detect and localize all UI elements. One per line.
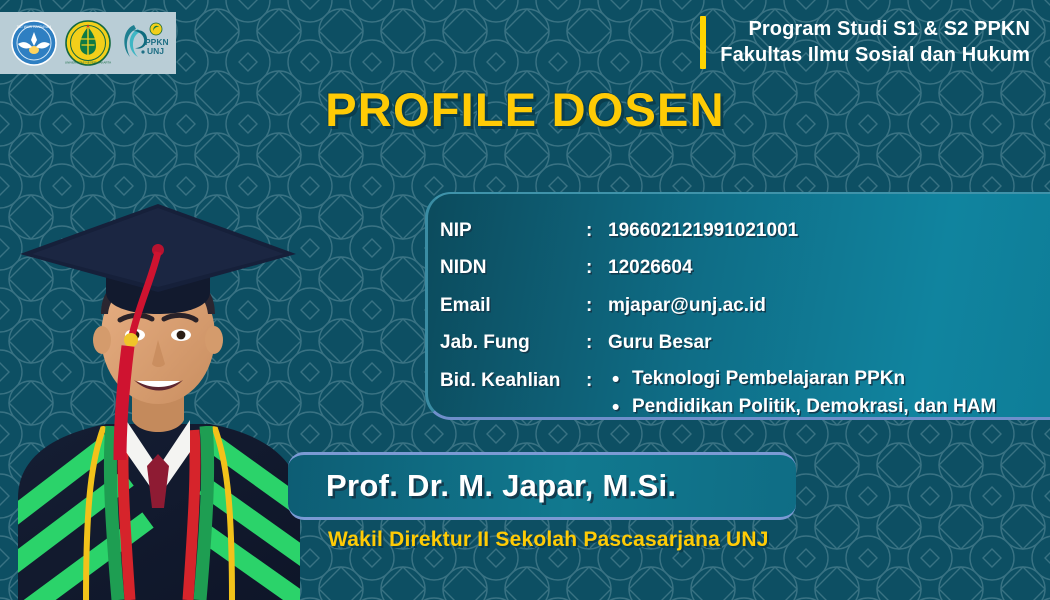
expertise-list: Teknologi Pembelajaran PPKn Pendidikan P… <box>608 366 996 422</box>
institution-logos: TUT WURI HANDAYANI UNIVERSITAS NEGERI JA… <box>0 12 176 74</box>
info-label: Jab. Fung <box>440 328 586 357</box>
svg-text:UNIVERSITAS NEGERI JAKARTA: UNIVERSITAS NEGERI JAKARTA <box>65 61 111 65</box>
ppkn-unj-logo: PPKN UNJ <box>118 19 166 67</box>
svg-text:TUT WURI HANDAYANI: TUT WURI HANDAYANI <box>17 25 52 29</box>
info-row-expertise: Bid. Keahlian : Teknologi Pembelajaran P… <box>440 366 1050 422</box>
info-label: Bid. Keahlian <box>440 366 586 395</box>
unj-seal-logo: UNIVERSITAS NEGERI JAKARTA <box>64 19 112 67</box>
header-accent-bar <box>700 16 706 69</box>
info-value-nip: 196602121991021001 <box>608 216 798 245</box>
info-value-nidn: 12026604 <box>608 253 693 282</box>
name-banner: Prof. Dr. M. Japar, M.Si. <box>288 452 796 520</box>
lecturer-name: Prof. Dr. M. Japar, M.Si. <box>288 468 676 504</box>
info-row: Email : mjapar@unj.ac.id <box>440 291 1050 320</box>
lecturer-position: Wakil Direktur II Sekolah Pascasarjana U… <box>328 528 769 552</box>
info-label: NIDN <box>440 253 586 282</box>
lecturer-photo <box>8 168 308 600</box>
info-row: NIDN : 12026604 <box>440 253 1050 282</box>
info-card: NIP : 196602121991021001 NIDN : 12026604… <box>425 192 1050 420</box>
profile-poster: TUT WURI HANDAYANI UNIVERSITAS NEGERI JA… <box>0 0 1050 600</box>
header-line-1: Program Studi S1 & S2 PPKN <box>720 16 1030 42</box>
list-item: Teknologi Pembelajaran PPKn <box>632 366 996 393</box>
program-header: Program Studi S1 & S2 PPKN Fakultas Ilmu… <box>700 16 1030 69</box>
page-title: PROFILE DOSEN <box>0 82 1050 137</box>
info-colon: : <box>586 253 608 282</box>
info-colon: : <box>586 366 608 395</box>
svg-text:UNJ: UNJ <box>147 46 164 56</box>
header-line-2: Fakultas Ilmu Sosial dan Hukum <box>720 42 1030 68</box>
info-row: NIP : 196602121991021001 <box>440 216 1050 245</box>
info-label: NIP <box>440 216 586 245</box>
info-colon: : <box>586 216 608 245</box>
list-item: Pendidikan Politik, Demokrasi, dan HAM <box>632 394 996 421</box>
info-value-email: mjapar@unj.ac.id <box>608 291 766 320</box>
info-colon: : <box>586 328 608 357</box>
tut-wuri-handayani-logo: TUT WURI HANDAYANI <box>10 19 58 67</box>
info-row: Jab. Fung : Guru Besar <box>440 328 1050 357</box>
info-label: Email <box>440 291 586 320</box>
info-value-jabatan: Guru Besar <box>608 328 711 357</box>
info-colon: : <box>586 291 608 320</box>
